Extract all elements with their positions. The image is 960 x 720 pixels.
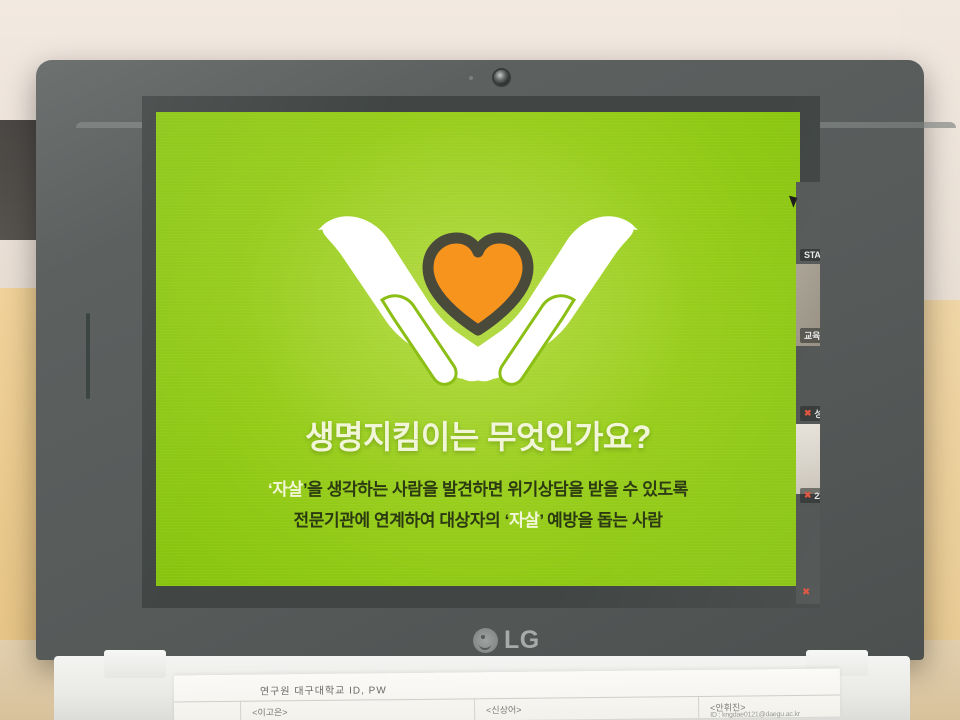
paper-cell: <신상어>	[486, 703, 521, 716]
participant-name-label: ✖ 성진 이	[800, 406, 820, 421]
lg-circle-icon	[473, 628, 498, 653]
participant-name-label: STAFF	[800, 249, 820, 261]
room-scene: LG	[0, 0, 960, 720]
slide-body: ‘자살’을 생각하는 사람을 발견하면 위기상담을 받을 수 있도록 전문기관에…	[156, 474, 800, 537]
participant-name-text: STAFF	[804, 250, 820, 260]
webcam-indicator-icon	[469, 76, 473, 80]
slide-body-2-rest: ’ 예방을 돕는 사람	[539, 511, 662, 530]
hinge-left	[104, 650, 166, 678]
vent-slot	[86, 313, 90, 399]
paper-column-divider	[698, 697, 699, 718]
slide-body-1-rest: ’을 생각하는 사람을 발견하면 위기상담을 받을 수 있도록	[303, 480, 688, 499]
participant-name-text: 22013210 임현수	[814, 489, 820, 502]
participant-name-text: 이아영	[796, 536, 820, 555]
slide-body-line-2: 전문기관에 연계하여 대상자의 ‘자살’ 예방을 돕는 사람	[156, 505, 800, 536]
shared-slide: 생명지킴이는 무엇인가요? ‘자살’을 생각하는 사람을 발견하면 위기상담을 …	[156, 112, 800, 586]
participant-name-text: 교육 강사	[804, 329, 820, 342]
participant-tile-student[interactable]: ✖ 22013210 임현수	[796, 424, 820, 506]
paper-title: 연구원 대구대학교 ID, PW	[260, 681, 387, 697]
mute-icon: ✖	[804, 491, 811, 500]
participant-tile-iayeong[interactable]: 이아영 ✖	[796, 506, 820, 604]
paper-cell-sub: ID : kngdae0121@daegu.ac.kr	[710, 711, 800, 719]
participant-tile-staff[interactable]: STAFF	[796, 182, 820, 264]
slide-body-2-pre: 전문기관에 연계하여 대상자의 ‘	[294, 511, 509, 530]
hands-holding-heart-icon	[308, 196, 648, 406]
participant-filmstrip[interactable]: STAFF 교육 강사	[796, 182, 820, 604]
participant-name-text: 성진 이	[814, 407, 820, 420]
participant-name-label: ✖ 22013210 임현수	[800, 488, 820, 503]
slide-title: 생명지킴이는 무엇인가요?	[156, 412, 800, 458]
mute-icon: ✖	[804, 409, 811, 418]
participant-tile-instructor[interactable]: 교육 강사	[796, 264, 820, 346]
participant-name-label: 교육 강사	[800, 328, 820, 343]
paper-column-divider	[240, 702, 241, 720]
student-video-frame	[796, 424, 820, 494]
slide-body-line-1: ‘자살’을 생각하는 사람을 발견하면 위기상담을 받을 수 있도록	[156, 474, 800, 505]
slide-body-1-highlight: 자살	[272, 480, 302, 499]
slide-body-2-highlight: 자살	[509, 511, 539, 530]
paper-column-divider	[474, 699, 475, 720]
mute-icon: ✖	[802, 587, 810, 598]
laptop-screen: 생명지킴이는 무엇인가요? ‘자살’을 생각하는 사람을 발견하면 위기상담을 …	[142, 96, 820, 608]
paper-cell: <이고은>	[252, 705, 287, 718]
webcam-icon	[494, 70, 509, 85]
lg-wordmark: LG	[504, 626, 540, 655]
participant-tile-seongjin[interactable]: ✖ 성진 이	[796, 346, 820, 424]
printed-credentials-sheet: 연구원 대구대학교 ID, PW <이고은> <신상어> <안휘진> ID : …	[174, 669, 840, 720]
lg-brand-logo: LG	[473, 625, 553, 655]
